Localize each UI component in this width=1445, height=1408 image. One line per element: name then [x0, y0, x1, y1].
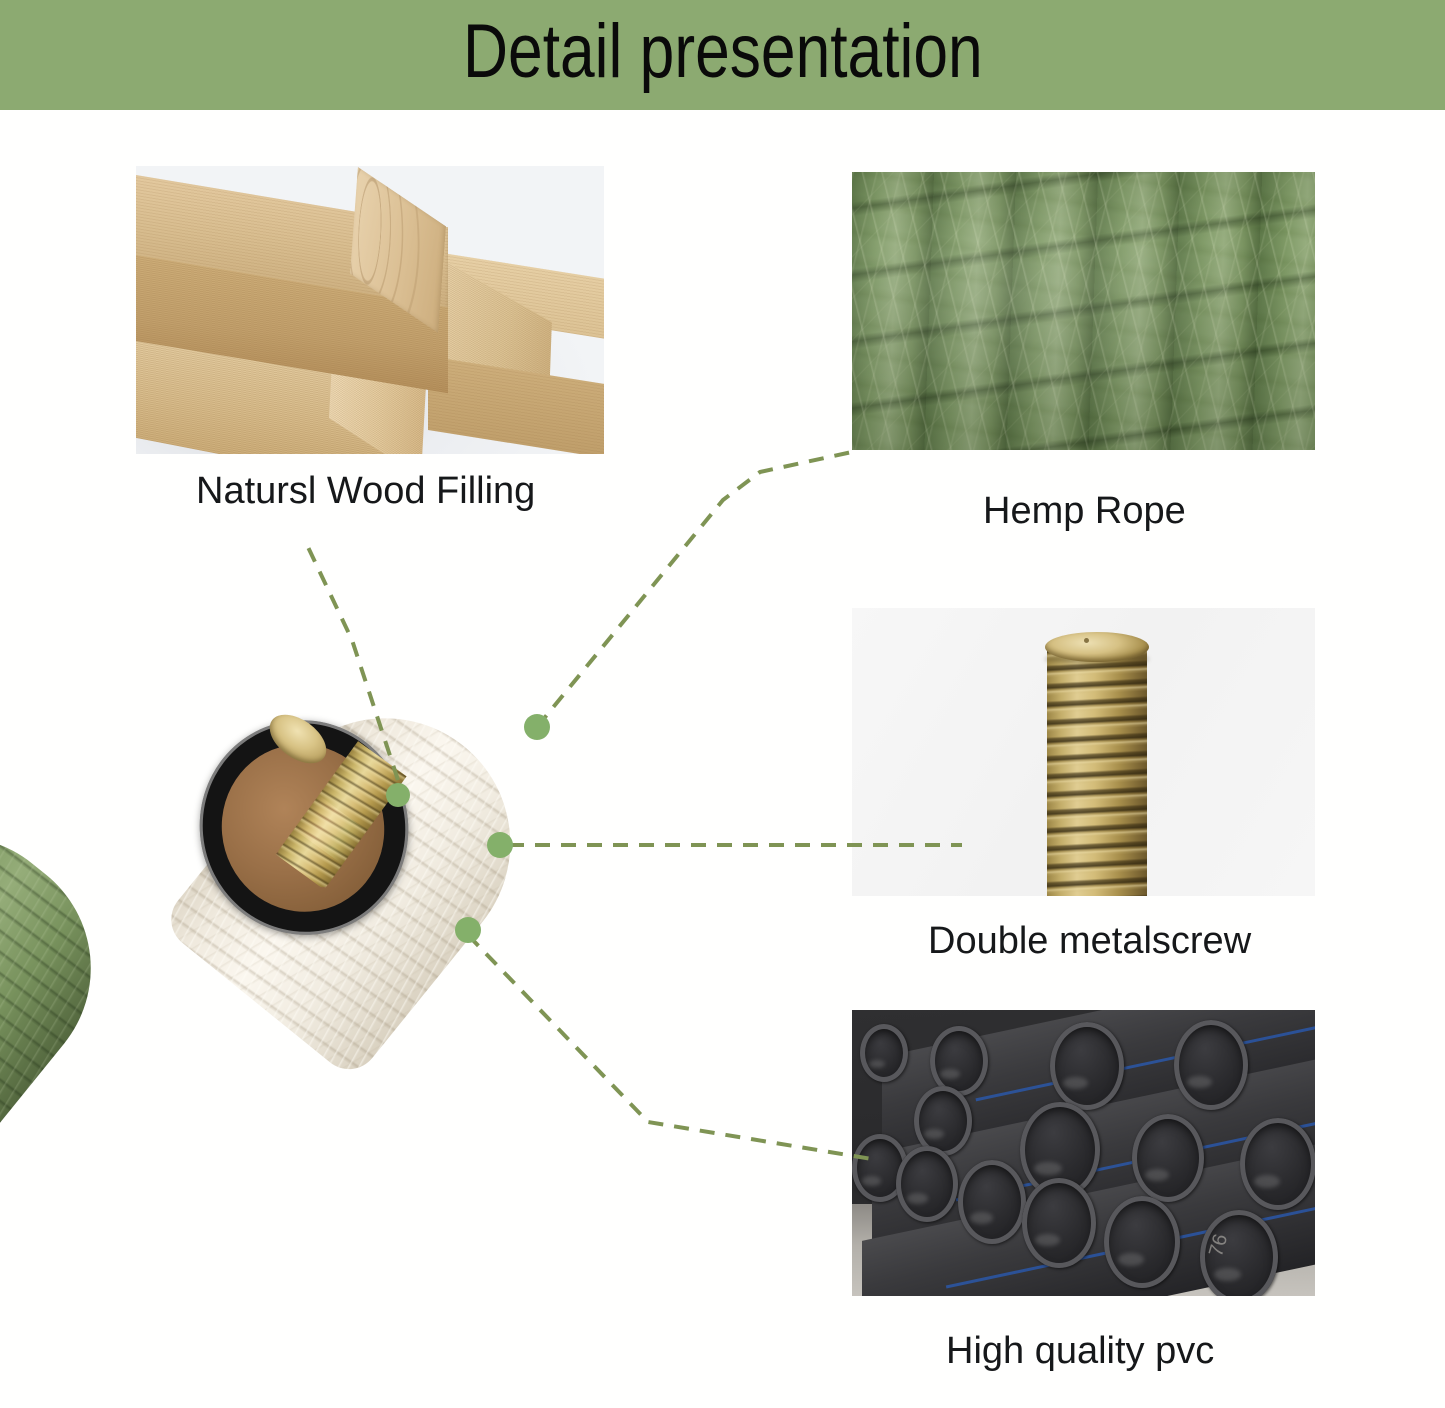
pvc-pipe-opening	[1022, 1178, 1096, 1268]
page-title: Detail presentation	[463, 14, 983, 96]
caption-hemp-rope: Hemp Rope	[983, 492, 1186, 530]
pvc-pipe-opening	[1132, 1114, 1204, 1202]
pvc-pipe-opening	[1050, 1022, 1124, 1110]
caption-pvc: High quality pvc	[946, 1332, 1214, 1370]
pvc-pipe-opening	[1240, 1118, 1315, 1210]
pvc-pipe-opening	[860, 1024, 908, 1082]
pvc-pipe-opening	[1174, 1020, 1248, 1110]
detail-presentation-infographic: Detail presentation	[0, 0, 1445, 1408]
pvc-pipe-opening	[958, 1160, 1026, 1244]
caption-metal-screw: Double metalscrew	[928, 922, 1251, 960]
photo-pvc-pipes: 76	[852, 1010, 1315, 1296]
screw-head-notch	[1084, 638, 1089, 643]
screw-threads	[1047, 642, 1147, 896]
photo-hemp-rope	[852, 172, 1315, 450]
product-scratching-post-photo	[0, 640, 640, 1408]
photo-natural-wood	[136, 166, 604, 454]
screw-shank	[1047, 642, 1147, 896]
caption-natural-wood: Natursl Wood Filling	[196, 472, 535, 510]
header-band: Detail presentation	[0, 0, 1445, 110]
photo-metal-screw	[852, 608, 1315, 896]
screw-head	[1045, 632, 1149, 662]
pvc-pipe-opening	[1104, 1196, 1180, 1288]
pvc-pipe-opening	[896, 1146, 958, 1222]
post-green-rope-section	[0, 788, 140, 1408]
hemp-rope-shading	[852, 172, 1315, 450]
